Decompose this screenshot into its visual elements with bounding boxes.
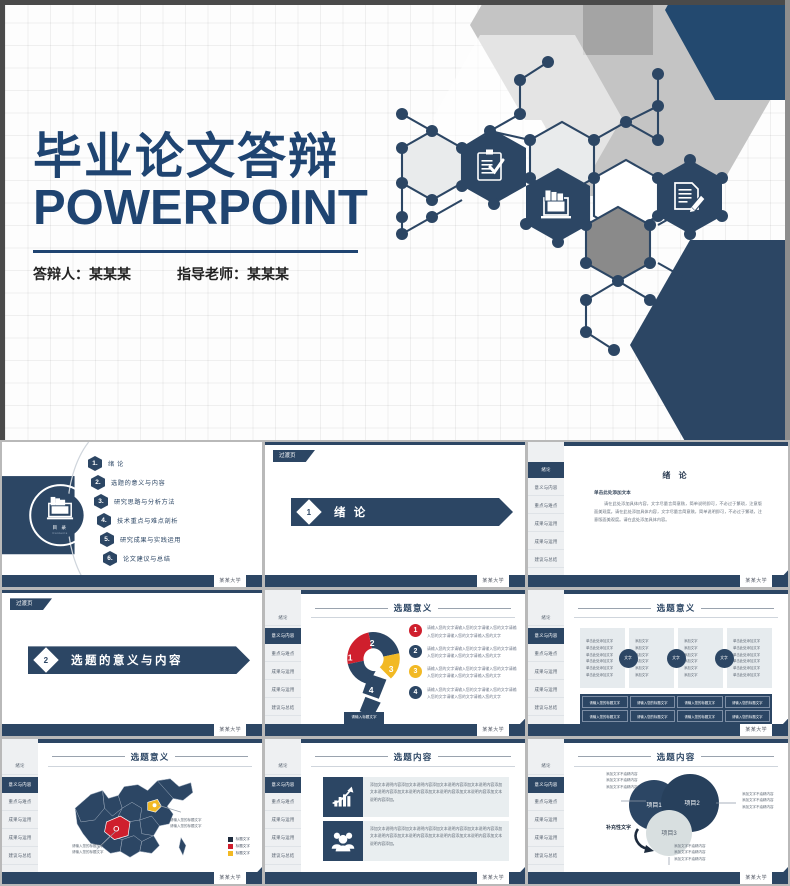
toc-number-hexagon: 5. bbox=[100, 532, 114, 547]
svg-text:4: 4 bbox=[369, 685, 374, 695]
content-header: 选题内容 bbox=[315, 751, 511, 763]
toc-number-hexagon: 3. bbox=[94, 494, 108, 509]
content-title: 选题内容 bbox=[657, 751, 696, 763]
thumbnail-intro-text[interactable]: 绪论意义与内容重点与难点成果与运用成果与运用建议与总结 绪 论 单击此处添加文本… bbox=[528, 442, 788, 587]
label-bar-group: 请输入您的标题文字请输入您的标题文字请输入您的标题文字请输入您的标题文字请输入您… bbox=[580, 694, 772, 726]
sidebar-item-3[interactable]: 重点与难点 bbox=[265, 646, 301, 662]
content-title: 选题意义 bbox=[394, 602, 433, 614]
bar-chart-icon bbox=[330, 784, 356, 810]
sidebar-item-label: 成果与运用 bbox=[272, 817, 295, 823]
sidebar-item-2[interactable]: 意义与内容 bbox=[265, 777, 301, 793]
sidebar-item-label: 绪论 bbox=[278, 763, 287, 769]
transition-band: 1 绪 论 bbox=[291, 498, 513, 526]
footer-university-label: 某某大学 bbox=[740, 872, 772, 884]
sidebar-item-4[interactable]: 成果与运用 bbox=[265, 813, 301, 829]
venn-note-right: 添加文字不油精内容 添加文字不油精内容 添加文字不油精内容 bbox=[742, 791, 788, 811]
svg-text:2: 2 bbox=[370, 639, 375, 649]
transition-slide-1: 过渡页 1 绪 论 bbox=[265, 442, 525, 587]
sidebar-item-label: 成果与运用 bbox=[535, 539, 558, 545]
svg-text:3: 3 bbox=[389, 664, 394, 674]
transition-tag: 过渡页 bbox=[273, 450, 315, 462]
thumbnail-china-map[interactable]: 绪论意义与内容重点与难点成果与运用成果与运用建议与总结 选题意义 bbox=[2, 739, 262, 884]
presentation-preview-page: 毕业论文答辩 POWERPOINT 答辩人：某某某 指导老师：某某某 bbox=[0, 0, 790, 886]
thumbnail-question-chart[interactable]: 绪论意义与内容重点与难点成果与运用成果与运用建议与总结 选题意义 bbox=[265, 590, 525, 735]
icon-row-text: 添加文本说明内容添加文本说明内容添加文本说明内容添加文本说明内容添加文本说明内容… bbox=[363, 821, 509, 861]
slide-title-chinese: 毕业论文答辩 bbox=[33, 130, 368, 185]
icon-row: 添加文本说明内容添加文本说明内容添加文本说明内容添加文本说明内容添加文本说明内容… bbox=[323, 777, 509, 817]
sidebar-item-5[interactable]: 成果与运用 bbox=[2, 831, 38, 847]
laptop-books-icon bbox=[46, 496, 74, 524]
question-item-text: 请输入您的文字请输入您的文字请输入您的文字请输入您的文字请输入您的文字请输入您的… bbox=[427, 665, 517, 679]
question-item: 3请输入您的文字请输入您的文字请输入您的文字请输入您的文字请输入您的文字请输入您… bbox=[409, 665, 517, 679]
content-panel: 绪 论 单击此处添加文本 请在此处添加具体内容，文字尽量言简意赅，简单说明即可，… bbox=[564, 442, 788, 587]
sidebar-item-4[interactable]: 成果与运用 bbox=[528, 516, 564, 532]
legend-row: 标题文字 bbox=[228, 844, 250, 849]
header-rule-right bbox=[175, 756, 248, 757]
sidebar-item-label: 成果与运用 bbox=[535, 669, 558, 675]
content-panel: 选题内容 项目1 项目2 项目3 bbox=[564, 739, 788, 884]
sidebar-item-6[interactable]: 建议与总结 bbox=[528, 552, 564, 568]
slide-sidebar: 绪论意义与内容重点与难点成果与运用成果与运用建议与总结 bbox=[2, 739, 38, 884]
sidebar-item-6[interactable]: 建议与总结 bbox=[2, 849, 38, 865]
sidebar-nav: 绪论意义与内容重点与难点成果与运用成果与运用建议与总结 bbox=[265, 610, 301, 716]
content-divider bbox=[311, 766, 515, 767]
venn-slide: 绪论意义与内容重点与难点成果与运用成果与运用建议与总结 选题内容 项目1 bbox=[528, 739, 788, 884]
slide-thumbnail-grid: 目 录 Contents 1.绪 论2.选题的意义与内容3.研究思路与分析方法4… bbox=[0, 440, 790, 886]
panel-top-strip bbox=[38, 739, 262, 743]
slide-top-strip bbox=[265, 442, 525, 445]
transition-number: 1 bbox=[307, 507, 311, 516]
sidebar-item-6[interactable]: 建议与总结 bbox=[528, 849, 564, 865]
question-item: 4请输入您的文字请输入您的文字请输入您的文字请输入您的文字请输入您的文字请输入您… bbox=[409, 686, 517, 700]
slide-sidebar: 绪论意义与内容重点与难点成果与运用成果与运用建议与总结 bbox=[528, 442, 564, 587]
content-header: 选题意义 bbox=[315, 602, 511, 614]
label-bar-cell: 请输入您的标题文字 bbox=[725, 710, 771, 722]
thumbnail-venn-diagram[interactable]: 绪论意义与内容重点与难点成果与运用成果与运用建议与总结 选题内容 项目1 bbox=[528, 739, 788, 884]
sidebar-item-label: 重点与难点 bbox=[535, 651, 558, 657]
question-item-number: 4 bbox=[409, 686, 422, 699]
icon-rows-slide: 绪论意义与内容重点与难点成果与运用成果与运用建议与总结 选题内容 bbox=[265, 739, 525, 884]
legend-label: 标题文字 bbox=[236, 844, 250, 849]
content-header: 选题内容 bbox=[578, 751, 774, 763]
sidebar-item-6[interactable]: 建议与总结 bbox=[528, 700, 564, 716]
map-legend: 标题文字标题文字标题文字 bbox=[228, 837, 250, 858]
toc-item[interactable]: 5.研究成果与实践运用 bbox=[88, 530, 256, 549]
icon-row-text: 添加文本说明内容添加文本说明内容添加文本说明内容添加文本说明内容添加文本说明内容… bbox=[363, 777, 509, 817]
content-title: 选题内容 bbox=[394, 751, 433, 763]
content-title: 选题意义 bbox=[657, 602, 696, 614]
thumbnail-transition-1[interactable]: 过渡页 1 绪 论 某某大学 bbox=[265, 442, 525, 587]
label-bar-cell: 请输入您的标题文字 bbox=[582, 710, 628, 722]
venn-label-3: 项目3 bbox=[661, 830, 677, 837]
sidebar-item-label: 建议与总结 bbox=[272, 853, 295, 859]
venn-label-1: 项目1 bbox=[646, 802, 662, 809]
question-item-text: 请输入您的文字请输入您的文字请输入您的文字请输入您的文字请输入您的文字请输入您的… bbox=[427, 624, 517, 638]
content-panel: 选题内容 添加文本说明内容添加文本 bbox=[301, 739, 525, 884]
venn-note-left: 添加文字不油精内容 添加文字不油精内容 添加文字不油精内容 bbox=[606, 771, 652, 791]
sidebar-item-5[interactable]: 成果与运用 bbox=[528, 831, 564, 847]
map-note-right: 请输入您的标题文字 请输入您的标题文字 bbox=[170, 817, 202, 830]
toc-item-label: 研究思路与分析方法 bbox=[114, 497, 175, 506]
footer-university-label: 某某大学 bbox=[214, 724, 246, 736]
content-divider bbox=[574, 766, 778, 767]
column-connector-circle: 文字 bbox=[619, 649, 638, 668]
transition-slide-2: 过渡页 2 选题的意义与内容 bbox=[2, 590, 262, 735]
transition-number: 2 bbox=[44, 656, 48, 665]
title-meta: 答辩人：某某某 指导老师：某某某 bbox=[33, 264, 368, 284]
sidebar-item-label: 绪论 bbox=[278, 615, 287, 621]
people-group-icon bbox=[330, 828, 356, 854]
sidebar-item-label: 意义与内容 bbox=[272, 633, 295, 639]
sidebar-item-5[interactable]: 成果与运用 bbox=[265, 682, 301, 698]
transition-number-badge: 2 bbox=[33, 648, 58, 673]
header-rule-left bbox=[52, 756, 125, 757]
sidebar-item-label: 成果与运用 bbox=[9, 835, 32, 841]
sidebar-item-3[interactable]: 重点与难点 bbox=[2, 795, 38, 811]
sidebar-item-label: 建议与总结 bbox=[535, 557, 558, 563]
header-rule-left bbox=[315, 608, 388, 609]
legend-swatch bbox=[228, 837, 233, 842]
toc-item-label: 技术重点与难点剖析 bbox=[117, 516, 178, 525]
question-item: 1请输入您的文字请输入您的文字请输入您的文字请输入您的文字请输入您的文字请输入您… bbox=[409, 624, 517, 638]
intro-slide: 绪论意义与内容重点与难点成果与运用成果与运用建议与总结 绪 论 单击此处添加文本… bbox=[528, 442, 788, 587]
sidebar-item-label: 重点与难点 bbox=[9, 799, 32, 805]
sidebar-item-1[interactable]: 绪论 bbox=[265, 759, 301, 775]
toc-list: 1.绪 论2.选题的意义与内容3.研究思路与分析方法4.技术重点与难点剖析5.研… bbox=[88, 454, 256, 568]
content-title: 选题意义 bbox=[131, 751, 170, 763]
sidebar-item-1[interactable]: 绪论 bbox=[528, 759, 564, 775]
column-connector-circle: 文字 bbox=[667, 649, 686, 668]
hexagon-network-graphic bbox=[390, 10, 760, 430]
content-divider bbox=[574, 617, 778, 618]
intro-paragraph: 请在此处添加具体内容，文字尽量言简意赅，简单说明即可，不必过于繁琐，注意版面美观… bbox=[594, 500, 762, 525]
slide-top-strip bbox=[2, 590, 262, 593]
sidebar-nav: 绪论意义与内容重点与难点成果与运用成果与运用建议与总结 bbox=[2, 759, 38, 865]
column-text: 单击此处添加文字 单击此处添加文字 单击此处添加文字 单击此处添加文字 单击此处… bbox=[580, 638, 619, 679]
content-panel: 选题意义 bbox=[38, 739, 262, 884]
header-rule-left bbox=[578, 756, 651, 757]
svg-text:1: 1 bbox=[348, 653, 353, 663]
sidebar-item-3[interactable]: 重点与难点 bbox=[528, 498, 564, 514]
toc-number-hexagon: 6. bbox=[103, 551, 117, 566]
sidebar-item-1[interactable]: 绪论 bbox=[528, 462, 564, 478]
toc-item-label: 论文建议与总结 bbox=[123, 554, 171, 563]
sidebar-item-label: 建议与总结 bbox=[9, 853, 32, 859]
legend-label: 标题文字 bbox=[236, 837, 250, 842]
content-header: 选题意义 bbox=[52, 751, 248, 763]
header-rule-right bbox=[701, 608, 774, 609]
sidebar-item-4[interactable]: 成果与运用 bbox=[2, 813, 38, 829]
transition-tag: 过渡页 bbox=[10, 598, 52, 610]
sidebar-item-2[interactable]: 意义与内容 bbox=[2, 777, 38, 793]
sidebar-item-label: 成果与运用 bbox=[535, 835, 558, 841]
toc-number-hexagon: 4. bbox=[97, 513, 111, 528]
footer-university-label: 某某大学 bbox=[214, 575, 246, 587]
transition-title: 选题的意义与内容 bbox=[71, 652, 183, 668]
intro-doc-title: 绪 论 bbox=[564, 470, 788, 481]
sidebar-item-label: 重点与难点 bbox=[535, 503, 558, 509]
sidebar-item-6[interactable]: 建议与总结 bbox=[265, 849, 301, 865]
toc-item[interactable]: 6.论文建议与总结 bbox=[88, 549, 256, 568]
sidebar-nav: 绪论意义与内容重点与难点成果与运用成果与运用建议与总结 bbox=[528, 610, 564, 716]
legend-label: 标题文字 bbox=[236, 851, 250, 856]
toc-item-label: 研究成果与实践运用 bbox=[120, 535, 181, 544]
panel-top-strip bbox=[301, 739, 525, 743]
slide-sidebar: 绪论意义与内容重点与难点成果与运用成果与运用建议与总结 bbox=[265, 590, 301, 735]
china-map-slide: 绪论意义与内容重点与难点成果与运用成果与运用建议与总结 选题意义 bbox=[2, 739, 262, 884]
right-border-strip bbox=[785, 0, 790, 440]
legend-row: 标题文字 bbox=[228, 851, 250, 856]
slide-sidebar: 绪论意义与内容重点与难点成果与运用成果与运用建议与总结 bbox=[528, 590, 564, 735]
sidebar-item-3[interactable]: 重点与难点 bbox=[528, 646, 564, 662]
label-bar-row: 请输入您的标题文字请输入您的标题文字请输入您的标题文字请输入您的标题文字 bbox=[582, 696, 770, 710]
toc-item[interactable]: 3.研究思路与分析方法 bbox=[88, 492, 256, 511]
panel-top-strip bbox=[564, 442, 788, 446]
title-block: 毕业论文答辩 POWERPOINT 答辩人：某某某 指导老师：某某某 bbox=[33, 130, 368, 284]
sidebar-nav: 绪论意义与内容重点与难点成果与运用成果与运用建议与总结 bbox=[265, 759, 301, 865]
sidebar-item-4[interactable]: 成果与运用 bbox=[265, 664, 301, 680]
label-bar-cell: 请输入您的标题文字 bbox=[725, 696, 771, 708]
sidebar-item-label: 绪论 bbox=[541, 467, 550, 473]
map-note-left: 请输入您的标题文字 请输入您的标题文字 bbox=[72, 843, 104, 856]
sidebar-item-label: 成果与运用 bbox=[535, 687, 558, 693]
column-connector-circle: 文字 bbox=[715, 649, 734, 668]
toc-item[interactable]: 2.选题的意义与内容 bbox=[88, 473, 256, 492]
sidebar-item-label: 绪论 bbox=[541, 763, 550, 769]
sidebar-nav: 绪论意义与内容重点与难点成果与运用成果与运用建议与总结 bbox=[528, 759, 564, 865]
column-group: 单击此处添加文字 单击此处添加文字 单击此处添加文字 单击此处添加文字 单击此处… bbox=[580, 628, 772, 688]
panel-top-strip bbox=[301, 590, 525, 594]
question-item-number: 2 bbox=[409, 645, 422, 658]
venn-note-bottom: 添加文字不油精内容 添加文字不油精内容 添加文字不油精内容 bbox=[674, 843, 724, 863]
legend-swatch bbox=[228, 851, 233, 856]
question-item-text: 请输入您的文字请输入您的文字请输入您的文字请输入您的文字请输入您的文字请输入您的… bbox=[427, 645, 517, 659]
toc-item-label: 绪 论 bbox=[108, 459, 124, 468]
question-item-number: 3 bbox=[409, 665, 422, 678]
content-header: 选题意义 bbox=[578, 602, 774, 614]
header-rule-right bbox=[701, 756, 774, 757]
toc-badge-en: Contents bbox=[46, 531, 74, 535]
sidebar-item-2[interactable]: 意义与内容 bbox=[265, 628, 301, 644]
toc-item[interactable]: 1.绪 论 bbox=[88, 454, 256, 473]
sidebar-nav: 绪论意义与内容重点与难点成果与运用成果与运用建议与总结 bbox=[528, 462, 564, 568]
sidebar-item-label: 建议与总结 bbox=[535, 853, 558, 859]
label-bar-cell: 请输入您的标题文字 bbox=[630, 696, 676, 708]
top-border-strip bbox=[5, 0, 790, 5]
sidebar-item-label: 绪论 bbox=[15, 763, 24, 769]
sidebar-item-label: 意义与内容 bbox=[535, 633, 558, 639]
sidebar-item-label: 建议与总结 bbox=[535, 705, 558, 711]
sidebar-item-label: 意义与内容 bbox=[272, 782, 295, 788]
transition-band: 2 选题的意义与内容 bbox=[28, 646, 250, 674]
footer-university-label: 某某大学 bbox=[477, 575, 509, 587]
sidebar-item-2[interactable]: 意义与内容 bbox=[528, 628, 564, 644]
toc-item-label: 选题的意义与内容 bbox=[111, 478, 165, 487]
footer-university-label: 某某大学 bbox=[740, 724, 772, 736]
title-slide: 毕业论文答辩 POWERPOINT 答辩人：某某某 指导老师：某某某 bbox=[0, 0, 790, 440]
label-bar-cell: 请输入您的标题文字 bbox=[582, 696, 628, 708]
footer-university-label: 某某大学 bbox=[214, 872, 246, 884]
question-item-list: 1请输入您的文字请输入您的文字请输入您的文字请输入您的文字请输入您的文字请输入您… bbox=[409, 624, 517, 706]
sidebar-item-4[interactable]: 成果与运用 bbox=[528, 664, 564, 680]
intro-subtitle: 单击此处添加文本 bbox=[594, 490, 631, 496]
advisor-label: 指导老师：某某某 bbox=[177, 264, 289, 284]
question-item-number: 1 bbox=[409, 624, 422, 637]
slide-sidebar: 绪论意义与内容重点与难点成果与运用成果与运用建议与总结 bbox=[528, 739, 564, 884]
thumbnail-icon-rows[interactable]: 绪论意义与内容重点与难点成果与运用成果与运用建议与总结 选题内容 bbox=[265, 739, 525, 884]
footer-university-label: 某某大学 bbox=[477, 872, 509, 884]
label-bar-cell: 请输入您的标题文字 bbox=[677, 710, 723, 722]
icon-row: 添加文本说明内容添加文本说明内容添加文本说明内容添加文本说明内容添加文本说明内容… bbox=[323, 821, 509, 861]
sidebar-item-label: 重点与难点 bbox=[535, 799, 558, 805]
sidebar-item-1[interactable]: 绪论 bbox=[2, 759, 38, 775]
question-item: 2请输入您的文字请输入您的文字请输入您的文字请输入您的文字请输入您的文字请输入您… bbox=[409, 645, 517, 659]
sidebar-item-label: 意义与内容 bbox=[535, 782, 558, 788]
bar-chart-icon-box bbox=[323, 777, 363, 817]
thumbnail-toc[interactable]: 目 录 Contents 1.绪 论2.选题的意义与内容3.研究思路与分析方法4… bbox=[2, 442, 262, 587]
question-chart-slide: 绪论意义与内容重点与难点成果与运用成果与运用建议与总结 选题意义 bbox=[265, 590, 525, 735]
sidebar-item-1[interactable]: 绪论 bbox=[528, 610, 564, 626]
thumbnail-four-columns[interactable]: 绪论意义与内容重点与难点成果与运用成果与运用建议与总结 选题意义 单击此处添加文… bbox=[528, 590, 788, 735]
header-rule-right bbox=[438, 756, 511, 757]
four-column-slide: 绪论意义与内容重点与难点成果与运用成果与运用建议与总结 选题意义 单击此处添加文… bbox=[528, 590, 788, 735]
venn-label-2: 项目2 bbox=[684, 800, 700, 807]
sidebar-item-2[interactable]: 意义与内容 bbox=[528, 777, 564, 793]
sidebar-item-3[interactable]: 重点与难点 bbox=[265, 795, 301, 811]
footer-university-label: 某某大学 bbox=[740, 575, 772, 587]
sidebar-item-1[interactable]: 绪论 bbox=[265, 610, 301, 626]
sidebar-item-label: 重点与难点 bbox=[272, 799, 295, 805]
question-mark-donut-chart: 2 1 3 4 bbox=[331, 626, 417, 718]
sidebar-item-label: 成果与运用 bbox=[535, 817, 558, 823]
slide-title-english: POWERPOINT bbox=[33, 183, 368, 234]
content-panel: 选题意义 2 bbox=[301, 590, 525, 735]
sidebar-item-label: 建议与总结 bbox=[272, 705, 295, 711]
sidebar-item-label: 成果与运用 bbox=[535, 521, 558, 527]
venn-bold-note: 补充性文字 bbox=[606, 824, 631, 831]
content-column: 单击此处添加文字 单击此处添加文字 单击此处添加文字 单击此处添加文字 单击此处… bbox=[727, 628, 772, 688]
sidebar-item-label: 意义与内容 bbox=[535, 485, 558, 491]
footer-university-label: 某某大学 bbox=[477, 724, 509, 736]
sidebar-item-label: 意义与内容 bbox=[9, 782, 32, 788]
sidebar-item-5[interactable]: 成果与运用 bbox=[528, 682, 564, 698]
legend-swatch bbox=[228, 844, 233, 849]
sidebar-item-label: 绪论 bbox=[541, 615, 550, 621]
sidebar-item-4[interactable]: 成果与运用 bbox=[528, 813, 564, 829]
header-rule-right bbox=[438, 608, 511, 609]
presenter-label: 答辩人：某某某 bbox=[33, 264, 131, 284]
question-caption: 请输入标题文字 bbox=[344, 712, 384, 723]
content-divider bbox=[48, 766, 252, 767]
sidebar-item-label: 成果与运用 bbox=[272, 835, 295, 841]
legend-row: 标题文字 bbox=[228, 837, 250, 842]
sidebar-item-5[interactable]: 成果与运用 bbox=[265, 831, 301, 847]
toc-number-hexagon: 2. bbox=[91, 475, 105, 490]
sidebar-item-5[interactable]: 成果与运用 bbox=[528, 534, 564, 550]
thumbnail-transition-2[interactable]: 过渡页 2 选题的意义与内容 某某大学 bbox=[2, 590, 262, 735]
sidebar-item-label: 重点与难点 bbox=[272, 651, 295, 657]
panel-top-strip bbox=[564, 739, 788, 743]
label-bar-cell: 请输入您的标题文字 bbox=[630, 710, 676, 722]
toc-slide: 目 录 Contents 1.绪 论2.选题的意义与内容3.研究思路与分析方法4… bbox=[2, 442, 262, 587]
title-divider bbox=[33, 250, 358, 253]
transition-number-badge: 1 bbox=[296, 499, 321, 524]
sidebar-item-label: 成果与运用 bbox=[272, 669, 295, 675]
sidebar-item-6[interactable]: 建议与总结 bbox=[265, 700, 301, 716]
header-rule-left bbox=[578, 608, 651, 609]
header-rule-left bbox=[315, 756, 388, 757]
sidebar-item-label: 成果与运用 bbox=[272, 687, 295, 693]
content-divider bbox=[311, 617, 515, 618]
panel-top-strip bbox=[564, 590, 788, 594]
toc-number-hexagon: 1. bbox=[88, 456, 102, 471]
label-bar-cell: 请输入您的标题文字 bbox=[677, 696, 723, 708]
content-panel: 选题意义 单击此处添加文字 单击此处添加文字 单击此处添加文字 单击此处添加文字… bbox=[564, 590, 788, 735]
people-group-icon-box bbox=[323, 821, 363, 861]
sidebar-item-2[interactable]: 意义与内容 bbox=[528, 480, 564, 496]
question-item-text: 请输入您的文字请输入您的文字请输入您的文字请输入您的文字请输入您的文字请输入您的… bbox=[427, 686, 517, 700]
slide-sidebar: 绪论意义与内容重点与难点成果与运用成果与运用建议与总结 bbox=[265, 739, 301, 884]
label-bar-row: 请输入您的标题文字请输入您的标题文字请输入您的标题文字请输入您的标题文字 bbox=[582, 710, 770, 724]
sidebar-item-3[interactable]: 重点与难点 bbox=[528, 795, 564, 811]
transition-title: 绪 论 bbox=[334, 504, 368, 520]
sidebar-item-label: 成果与运用 bbox=[9, 817, 32, 823]
toc-item[interactable]: 4.技术重点与难点剖析 bbox=[88, 511, 256, 530]
